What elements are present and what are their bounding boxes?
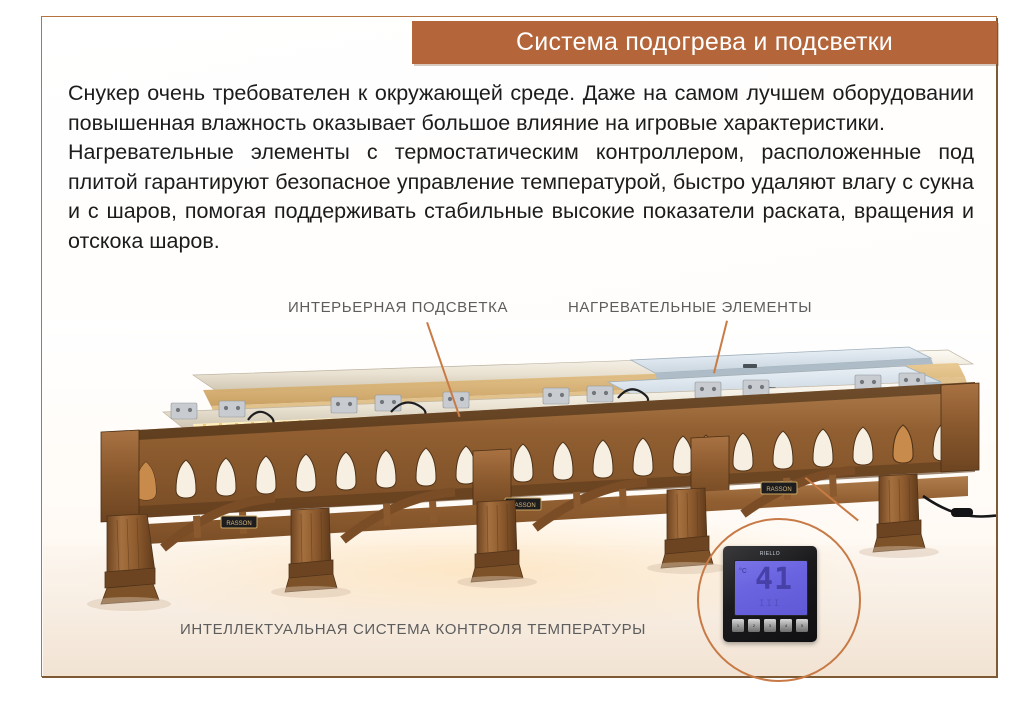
thermostat-inset: RIELLO °C 41 III 1 2 3 4 5 <box>697 518 861 682</box>
thermostat-button-4[interactable]: 4 <box>780 619 792 632</box>
thermostat-button-row: 1 2 3 4 5 <box>732 619 808 632</box>
thermostat-brand-label: RIELLO <box>723 551 817 557</box>
thermostat-temperature-readout: 41 <box>755 565 793 595</box>
thermostat-button-1[interactable]: 1 <box>732 619 744 632</box>
callout-heating-elements: НАГРЕВАТЕЛЬНЫЕ ЭЛЕМЕНТЫ <box>568 299 812 316</box>
paragraph-intro: Снукер очень требователен к окружающей с… <box>68 79 974 138</box>
svg-text:RASSON: RASSON <box>766 487 791 493</box>
thermostat-button-5[interactable]: 5 <box>796 619 808 632</box>
slide-root: Система подогрева и подсветки Снукер оче… <box>0 0 1024 710</box>
thermostat-sub-readout: III <box>759 599 781 609</box>
svg-text:RASSON: RASSON <box>226 521 251 527</box>
thermostat-mode-indicator: °C <box>739 568 747 575</box>
page-title: Система подогрева и подсветки <box>516 28 893 57</box>
thermostat-device[interactable]: RIELLO °C 41 III 1 2 3 4 5 <box>723 546 817 642</box>
title-banner: Система подогрева и подсветки <box>412 21 997 64</box>
thermostat-lcd-screen: °C 41 III <box>734 560 808 616</box>
frame-right-shadow <box>996 18 998 678</box>
thermostat-button-2[interactable]: 2 <box>748 619 760 632</box>
body-copy: Снукер очень требователен к окружающей с… <box>68 79 974 256</box>
thermostat-button-3[interactable]: 3 <box>764 619 776 632</box>
callout-interior-lighting: ИНТЕРЬЕРНАЯ ПОДСВЕТКА <box>288 299 508 316</box>
paragraph-heating: Нагревательные элементы с термостатическ… <box>68 138 974 256</box>
callout-temperature-control: ИНТЕЛЛЕКТУАЛЬНАЯ СИСТЕМА КОНТРОЛЯ ТЕМПЕР… <box>180 621 646 638</box>
